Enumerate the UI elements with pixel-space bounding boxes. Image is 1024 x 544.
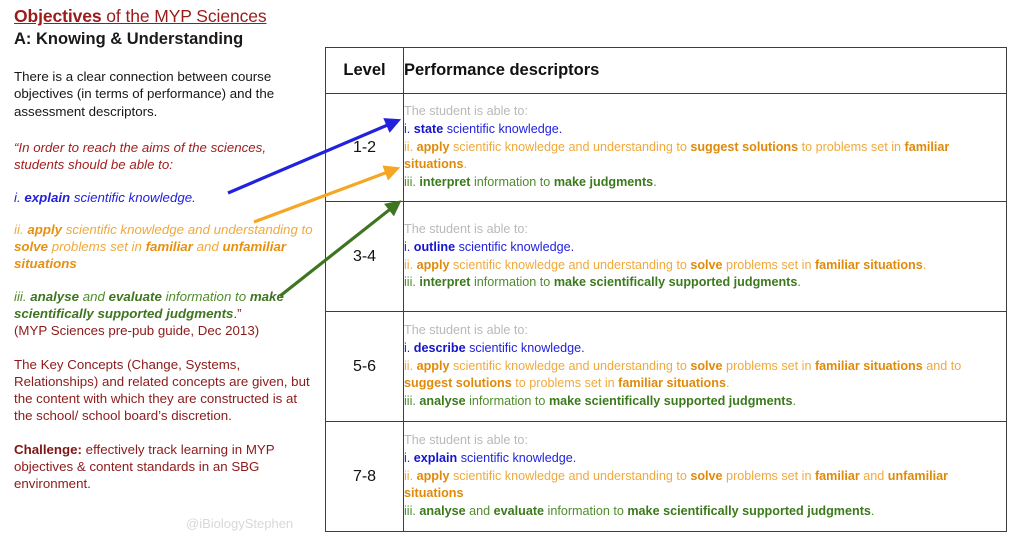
descriptor-ii-mid3: and <box>860 469 888 483</box>
descriptor-i: i. state scientific knowledge. <box>404 121 1006 139</box>
lead-in-text: The student is able to: <box>404 432 1006 450</box>
descriptor-ii-mid2: problems set in <box>723 258 815 272</box>
quote-opening: “In order to reach the aims of the scien… <box>14 139 314 173</box>
descriptor-i: i. outline scientific knowledge. <box>404 239 1006 257</box>
objective-iii-closing: .” <box>233 306 241 321</box>
table-row: 3-4 The student is able to: i. outline s… <box>326 202 1007 312</box>
table-row: 1-2 The student is able to: i. state sci… <box>326 94 1007 202</box>
descriptor-iii: iii. interpret information to make scien… <box>404 274 1006 292</box>
objective-ii-term1: familiar <box>146 239 193 254</box>
descriptor-i-number: i. <box>404 122 414 136</box>
key-concepts-paragraph: The Key Concepts (Change, Systems, Relat… <box>14 356 314 425</box>
level-cell: 3-4 <box>326 202 404 312</box>
descriptor-i-number: i. <box>404 240 414 254</box>
descriptor-ii-mid2: problems set in <box>723 469 815 483</box>
descriptor-ii-number: ii. <box>404 359 417 373</box>
descriptor-ii: ii. apply scientific knowledge and under… <box>404 468 1006 504</box>
descriptor-ii-number: ii. <box>404 258 417 272</box>
descriptor-ii-tail: . <box>463 157 467 171</box>
descriptor-iii-mid1: information to <box>466 394 549 408</box>
objective-iii-mid2: information to <box>162 289 250 304</box>
descriptor-ii-verb2: solve <box>690 359 722 373</box>
descriptor-iii-mid2: information to <box>544 504 627 518</box>
descriptor-ii-mid1: scientific knowledge and understanding t… <box>450 140 691 154</box>
descriptor-iii-verb2: evaluate <box>494 504 544 518</box>
descriptor-iii-tail: . <box>653 175 657 189</box>
level-cell: 1-2 <box>326 94 404 202</box>
descriptor-ii: ii. apply scientific knowledge and under… <box>404 139 1006 175</box>
descriptor-ii-tail: . <box>923 258 927 272</box>
source-citation: (MYP Sciences pre-pub guide, Dec 2013) <box>14 322 314 339</box>
performance-descriptors-table: Level Performance descriptors 1-2 The st… <box>325 47 1007 532</box>
page-title-rest: of the MYP Sciences <box>102 6 267 26</box>
descriptor-i-rest: scientific knowledge. <box>466 341 585 355</box>
descriptor-i-number: i. <box>404 451 414 465</box>
descriptor-cell: The student is able to: i. outline scien… <box>404 202 1007 312</box>
descriptor-iii-term: make scientifically supported judgments <box>554 275 798 289</box>
descriptor-ii-tail: . <box>726 376 730 390</box>
descriptor-ii-number: ii. <box>404 140 417 154</box>
page-subtitle: A: Knowing & Understanding <box>14 29 314 50</box>
descriptor-iii: iii. analyse and evaluate information to… <box>404 503 1006 521</box>
challenge-label: Challenge: <box>14 442 82 457</box>
table-row: 7-8 The student is able to: i. explain s… <box>326 422 1007 532</box>
descriptor-cell: The student is able to: i. state scienti… <box>404 94 1007 202</box>
descriptor-iii-number: iii. <box>404 275 419 289</box>
table-row: 5-6 The student is able to: i. describe … <box>326 312 1007 422</box>
descriptor-ii-verb2: suggest solutions <box>690 140 798 154</box>
intro-paragraph: There is a clear connection between cour… <box>14 68 314 119</box>
descriptor-ii-mid2: problems set in <box>723 359 815 373</box>
descriptor-iii-number: iii. <box>404 504 419 518</box>
header-level: Level <box>326 48 404 94</box>
objective-iii-number: iii. <box>14 289 30 304</box>
descriptor-ii-verb: apply <box>417 359 450 373</box>
level-cell: 5-6 <box>326 312 404 422</box>
descriptor-iii-tail: . <box>792 394 796 408</box>
descriptor-ii-verb3: suggest solutions <box>404 376 512 390</box>
descriptor-iii-mid1: and <box>466 504 494 518</box>
objective-ii-mid3: and <box>193 239 223 254</box>
lead-in-text: The student is able to: <box>404 103 1006 121</box>
descriptor-i-number: i. <box>404 341 414 355</box>
descriptor-ii-mid1: scientific knowledge and understanding t… <box>450 359 691 373</box>
descriptor-ii-mid1: scientific knowledge and understanding t… <box>450 258 691 272</box>
descriptor-ii-mid1: scientific knowledge and understanding t… <box>450 469 691 483</box>
objective-ii-mid2: problems set in <box>48 239 146 254</box>
objective-iii-verb: analyse <box>30 289 79 304</box>
descriptor-ii-verb: apply <box>417 258 450 272</box>
table-header-row: Level Performance descriptors <box>326 48 1007 94</box>
descriptor-i-rest: scientific knowledge. <box>457 451 576 465</box>
descriptor-iii-tail: . <box>871 504 875 518</box>
descriptor-ii-term2: familiar situations <box>618 376 726 390</box>
descriptor-i: i. explain scientific knowledge. <box>404 450 1006 468</box>
descriptor-ii-verb2: solve <box>690 469 722 483</box>
descriptor-i-verb: explain <box>414 451 457 465</box>
objective-ii-verb2: solve <box>14 239 48 254</box>
descriptor-iii-tail: . <box>797 275 801 289</box>
descriptor-i-verb: describe <box>414 341 466 355</box>
level-cell: 7-8 <box>326 422 404 532</box>
descriptor-cell: The student is able to: i. describe scie… <box>404 312 1007 422</box>
descriptor-iii: iii. interpret information to make judgm… <box>404 174 1006 192</box>
descriptor-ii-mid3: and to <box>923 359 962 373</box>
descriptor-iii-verb: interpret <box>419 175 470 189</box>
descriptor-iii-number: iii. <box>404 394 419 408</box>
objective-ii-verb: apply <box>27 222 62 237</box>
descriptor-ii: ii. apply scientific knowledge and under… <box>404 358 1006 394</box>
descriptor-iii-term: make scientifically supported judgments <box>627 504 871 518</box>
descriptor-ii-mid4: to problems set in <box>512 376 618 390</box>
descriptor-iii-verb: analyse <box>419 504 465 518</box>
objective-iii: iii. analyse and evaluate information to… <box>14 288 314 322</box>
descriptor-ii-number: ii. <box>404 469 417 483</box>
page-title-emphasis: Objectives <box>14 6 102 26</box>
descriptor-ii-verb: apply <box>417 469 450 483</box>
watermark: @iBiologyStephen <box>186 516 293 531</box>
descriptor-cell: The student is able to: i. explain scien… <box>404 422 1007 532</box>
descriptor-i-rest: scientific knowledge. <box>443 122 562 136</box>
objective-ii-mid1: scientific knowledge and understanding t… <box>62 222 313 237</box>
objective-i-number: i. <box>14 190 24 205</box>
lead-in-text: The student is able to: <box>404 221 1006 239</box>
objective-ii-number: ii. <box>14 222 27 237</box>
page-title: Objectives of the MYP Sciences <box>14 6 314 28</box>
objective-i: i. explain scientific knowledge. <box>14 189 314 206</box>
slide-canvas: Objectives of the MYP Sciences A: Knowin… <box>0 0 1024 544</box>
descriptor-ii: ii. apply scientific knowledge and under… <box>404 257 1006 275</box>
descriptor-ii-verb2: solve <box>690 258 722 272</box>
descriptor-iii-number: iii. <box>404 175 419 189</box>
objective-iii-mid1: and <box>79 289 109 304</box>
descriptor-iii-mid1: information to <box>471 275 554 289</box>
descriptor-i-verb: state <box>414 122 443 136</box>
descriptor-iii-mid1: information to <box>471 175 554 189</box>
descriptor-i-rest: scientific knowledge. <box>455 240 574 254</box>
objective-iii-verb2: evaluate <box>109 289 162 304</box>
descriptor-iii-term: make scientifically supported judgments <box>549 394 793 408</box>
left-text-panel: Objectives of the MYP Sciences A: Knowin… <box>14 6 314 492</box>
descriptor-ii-term1: familiar situations <box>815 258 923 272</box>
descriptor-ii-mid2: to problems set in <box>798 140 904 154</box>
descriptor-iii-verb: analyse <box>419 394 465 408</box>
objective-ii: ii. apply scientific knowledge and under… <box>14 221 314 272</box>
descriptor-i-verb: outline <box>414 240 455 254</box>
descriptor-iii-verb: interpret <box>419 275 470 289</box>
objective-i-rest: scientific knowledge. <box>70 190 196 205</box>
challenge-paragraph: Challenge: effectively track learning in… <box>14 441 314 492</box>
header-descriptors: Performance descriptors <box>404 48 1007 94</box>
objective-i-verb: explain <box>24 190 70 205</box>
descriptor-i: i. describe scientific knowledge. <box>404 340 1006 358</box>
descriptor-ii-term1: familiar situations <box>815 359 923 373</box>
descriptor-ii-term1: familiar <box>815 469 860 483</box>
descriptor-iii: iii. analyse information to make scienti… <box>404 393 1006 411</box>
descriptor-ii-verb: apply <box>417 140 450 154</box>
lead-in-text: The student is able to: <box>404 322 1006 340</box>
descriptor-iii-term: make judgments <box>554 175 653 189</box>
